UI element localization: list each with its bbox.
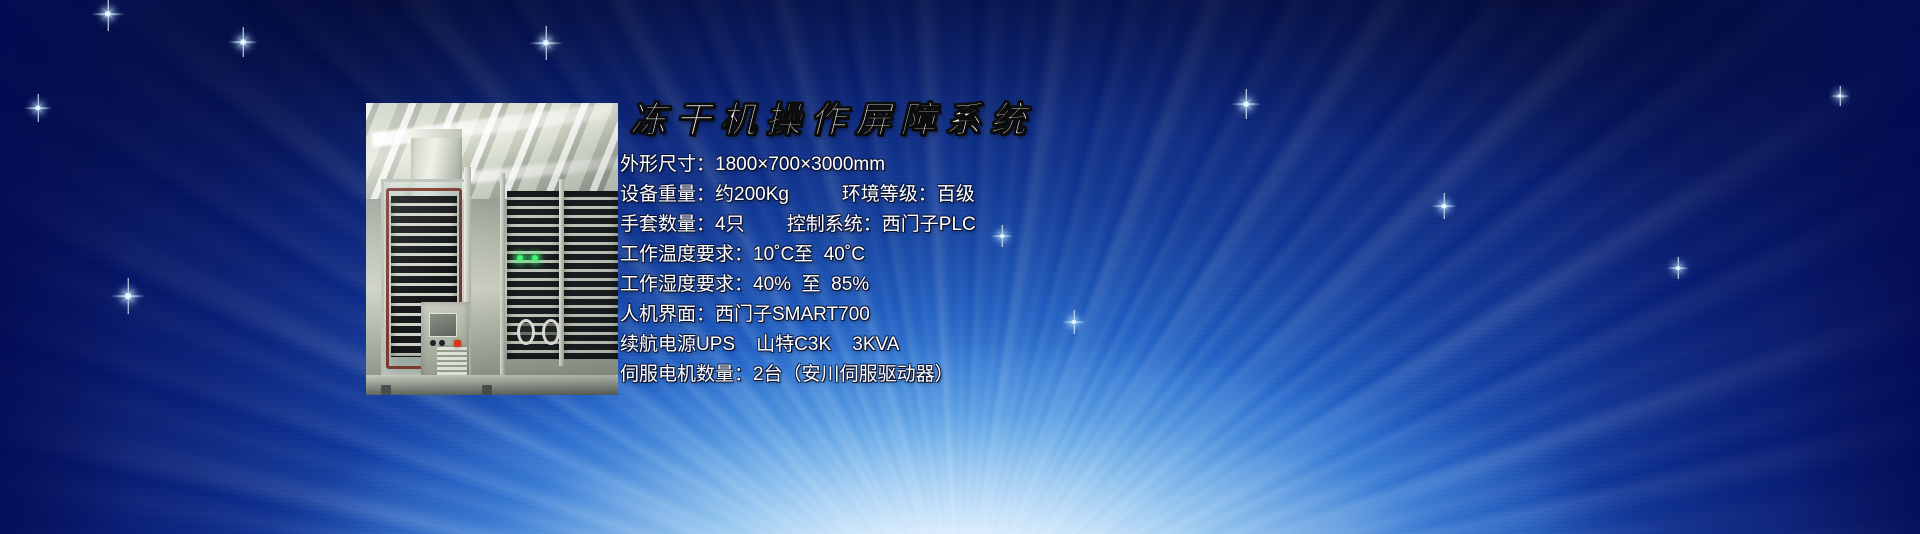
promo-banner: 冻干机操作屏障系统 外形尺寸：1800×700×3000mm设备重量：约200K… [0, 0, 1920, 534]
freeze-dryer-photo [366, 103, 618, 395]
spec-line-weight-and-grade: 设备重量：约200Kg 环境等级：百级 [620, 180, 1660, 210]
spec-line-gloves-and-control: 手套数量：4只 控制系统：西门子PLC [620, 210, 1660, 240]
spec-list: 外形尺寸：1800×700×3000mm设备重量：约200Kg 环境等级：百级手… [620, 150, 1660, 390]
spec-line-ups: 续航电源UPS 山特C3K 3KVA [620, 330, 1660, 360]
banner-text-column: 冻干机操作屏障系统 外形尺寸：1800×700×3000mm设备重量：约200K… [620, 98, 1660, 390]
spec-line-dimensions: 外形尺寸：1800×700×3000mm [620, 150, 1660, 180]
spec-line-humidity: 工作湿度要求：40% 至 85% [620, 270, 1660, 300]
spec-line-temperature: 工作温度要求：10˚C至 40˚C [620, 240, 1660, 270]
spec-line-servo-motors: 伺服电机数量：2台（安川伺服驱动器） [620, 360, 1660, 390]
page-title: 冻干机操作屏障系统 [630, 98, 1660, 142]
spec-line-hmi: 人机界面：西门子SMART700 [620, 300, 1660, 330]
